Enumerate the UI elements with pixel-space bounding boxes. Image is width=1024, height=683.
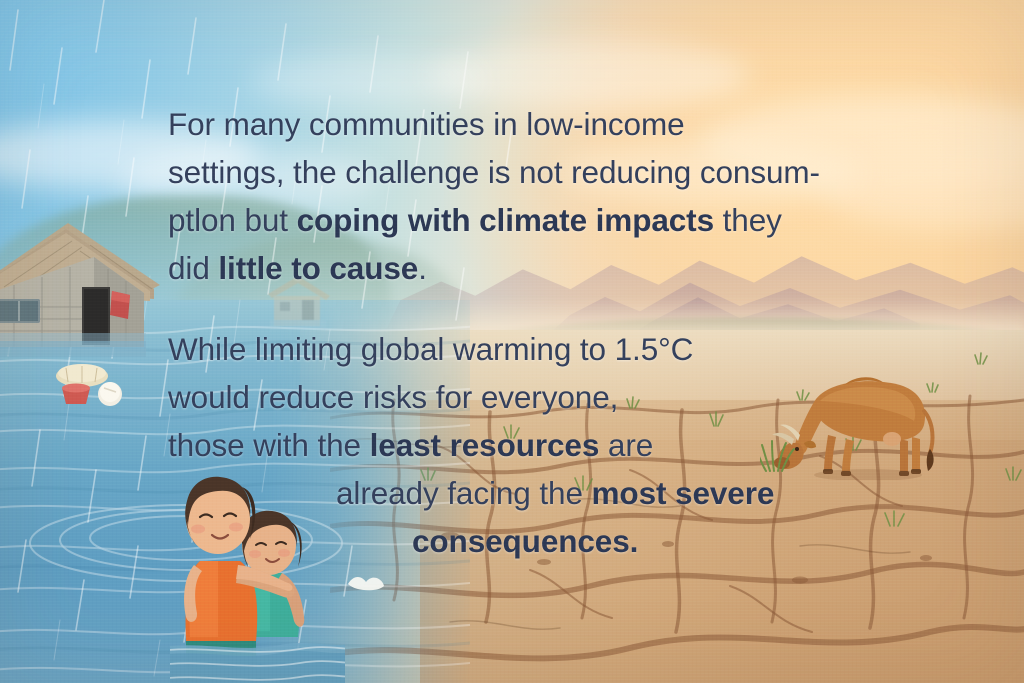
floating-red-bucket [56,382,96,410]
emphasis-coping-with-climate-impacts: coping with climate impacts [297,202,714,238]
emphasis-consequences: consequences. [412,523,638,559]
p1-line-4: did little to cause. [168,244,908,292]
p2-line-3: those with the least resources are [168,421,828,469]
flooded-stilt-house [0,215,172,365]
p2-line-1: While limiting global warming to 1.5°C [168,325,828,373]
p2-line-5: consequences. [168,517,828,565]
emphasis-most-severe: most severe [592,475,775,511]
p2-line-4: already facing the most severe [168,469,828,517]
p1-line-2: settings, the challenge is not reducing … [168,148,908,196]
plastic-bag-debris [344,570,388,596]
emphasis-little-to-cause: little to cause [218,250,418,286]
emphasis-least-resources: least resources [370,427,600,463]
paragraph-one: For many communities in low-income setti… [168,100,908,292]
p2-line-2: would reduce risks for everyone, [168,373,828,421]
floating-white-bundle [92,378,128,408]
p1-line-1: For many communities in low-income [168,100,908,148]
p1-line-3: ptlon but coping with climate impacts th… [168,196,908,244]
paragraph-two: While limiting global warming to 1.5°C w… [168,325,828,565]
climate-split-illustration: For many communities in low-income setti… [0,0,1024,683]
